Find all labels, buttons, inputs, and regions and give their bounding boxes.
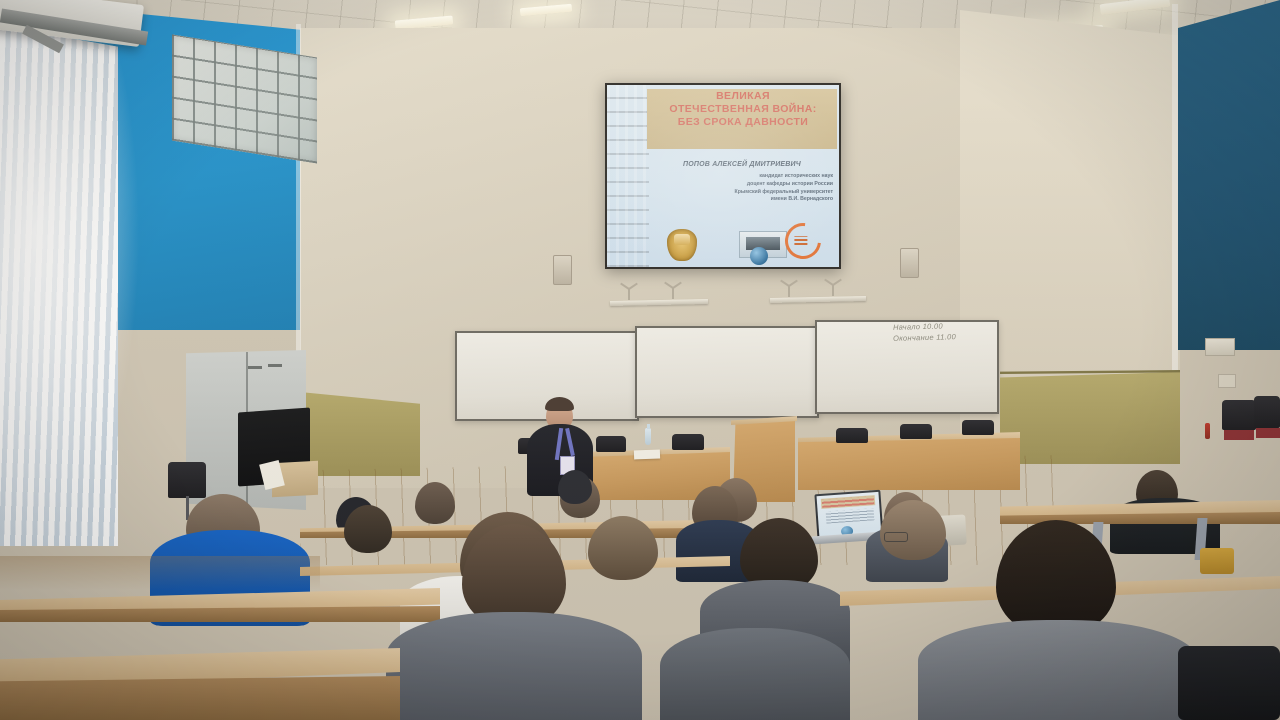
wall-vent-icon xyxy=(1205,338,1235,356)
student-head-with-glasses xyxy=(880,500,946,560)
wall-speaker-left xyxy=(553,255,572,285)
wall-speaker-right xyxy=(900,248,919,278)
student-head xyxy=(558,470,592,504)
credential-line: имени В.И. Вернадского xyxy=(667,196,833,204)
slide-background-photo xyxy=(607,85,649,267)
window-light-glow xyxy=(0,26,140,546)
slide-title: ВЕЛИКАЯ ОТЕЧЕСТВЕННАЯ ВОЙНА: БЕЗ СРОКА Д… xyxy=(651,90,835,128)
glasses-icon xyxy=(884,532,908,542)
cabinet-handle-icon[interactable] xyxy=(248,366,262,369)
stacking-chair[interactable] xyxy=(1222,400,1256,430)
projection-screen: ВЕЛИКАЯ ОТЕЧЕСТВЕННАЯ ВОЙНА: БЕЗ СРОКА Д… xyxy=(605,83,841,269)
slide-title-line3: БЕЗ СРОКА ДАВНОСТИ xyxy=(651,116,835,129)
slide-title-line2: ОТЕЧЕСТВЕННАЯ ВОЙНА: xyxy=(651,103,835,116)
presidium-chair[interactable] xyxy=(900,424,932,439)
student-torso-foreground-gray xyxy=(386,612,642,720)
presidium-chair[interactable] xyxy=(962,420,994,435)
whiteboard-panel-2 xyxy=(635,326,819,418)
credential-line: доцент кафедры истории России xyxy=(667,181,833,189)
papers-on-table[interactable] xyxy=(634,450,660,460)
foreground-desk-edge xyxy=(0,676,400,720)
globe-icon xyxy=(750,247,768,265)
coat-of-arms-logo xyxy=(667,229,697,261)
slide-speaker-name: ПОПОВ АЛЕКСЕЙ ДМИТРИЕВИЧ xyxy=(651,161,833,168)
fire-extinguisher-icon xyxy=(1205,423,1210,439)
whiteboard-note-line: Начало 10.00 xyxy=(893,321,956,332)
dark-blue-wall xyxy=(1178,0,1280,350)
whiteboard-note-line: Окончание 11.00 xyxy=(893,332,956,343)
slide-title-line1: ВЕЛИКАЯ xyxy=(651,90,835,103)
slide-logo-row xyxy=(651,227,835,261)
office-chair-left[interactable] xyxy=(168,462,206,498)
lecture-hall-photo: ВЕЛИКАЯ ОТЕЧЕСТВЕННАЯ ВОЙНА: БЕЗ СРОКА Д… xyxy=(0,0,1280,720)
presidium-chair[interactable] xyxy=(836,428,868,443)
wall-corner-highlight xyxy=(1172,4,1178,424)
poster-hanger xyxy=(832,284,834,296)
orange-arc-logo xyxy=(778,216,829,267)
stacking-chair-red-seat xyxy=(1224,430,1254,440)
left-wall-wainscot xyxy=(300,392,420,476)
right-wall-wainscot xyxy=(1000,372,1180,464)
stacking-chair[interactable] xyxy=(1254,396,1280,428)
student-torso-foreground-left xyxy=(660,628,850,720)
poster-hanger xyxy=(672,287,674,299)
credential-line: Крымский федеральный университет xyxy=(667,189,833,197)
presidium-chair[interactable] xyxy=(596,436,626,452)
backpack xyxy=(1178,646,1280,720)
cabinet-handle-icon[interactable] xyxy=(268,364,282,367)
poster-hanger xyxy=(628,288,630,300)
student-torso-foreground-hoodie xyxy=(918,620,1198,720)
slide-credentials: кандидат исторических наук доцент кафедр… xyxy=(667,173,833,204)
student-head xyxy=(415,482,455,524)
chair-yellow[interactable] xyxy=(1200,548,1234,574)
presentation-slide: ВЕЛИКАЯ ОТЕЧЕСТВЕННАЯ ВОЙНА: БЕЗ СРОКА Д… xyxy=(607,85,839,267)
presidium-table-right-front xyxy=(798,438,1020,490)
poster-hanger xyxy=(788,285,790,297)
water-bottle[interactable] xyxy=(645,428,651,445)
wall-box-icon xyxy=(1218,374,1236,388)
tier-step-shadow xyxy=(0,556,320,590)
whiteboard-notes: Начало 10.00 Окончание 11.00 xyxy=(893,322,956,342)
credential-line: кандидат исторических наук xyxy=(667,173,833,181)
student-head xyxy=(344,505,392,553)
stacking-chair-red-seat xyxy=(1256,428,1280,438)
presidium-chair[interactable] xyxy=(672,434,704,450)
